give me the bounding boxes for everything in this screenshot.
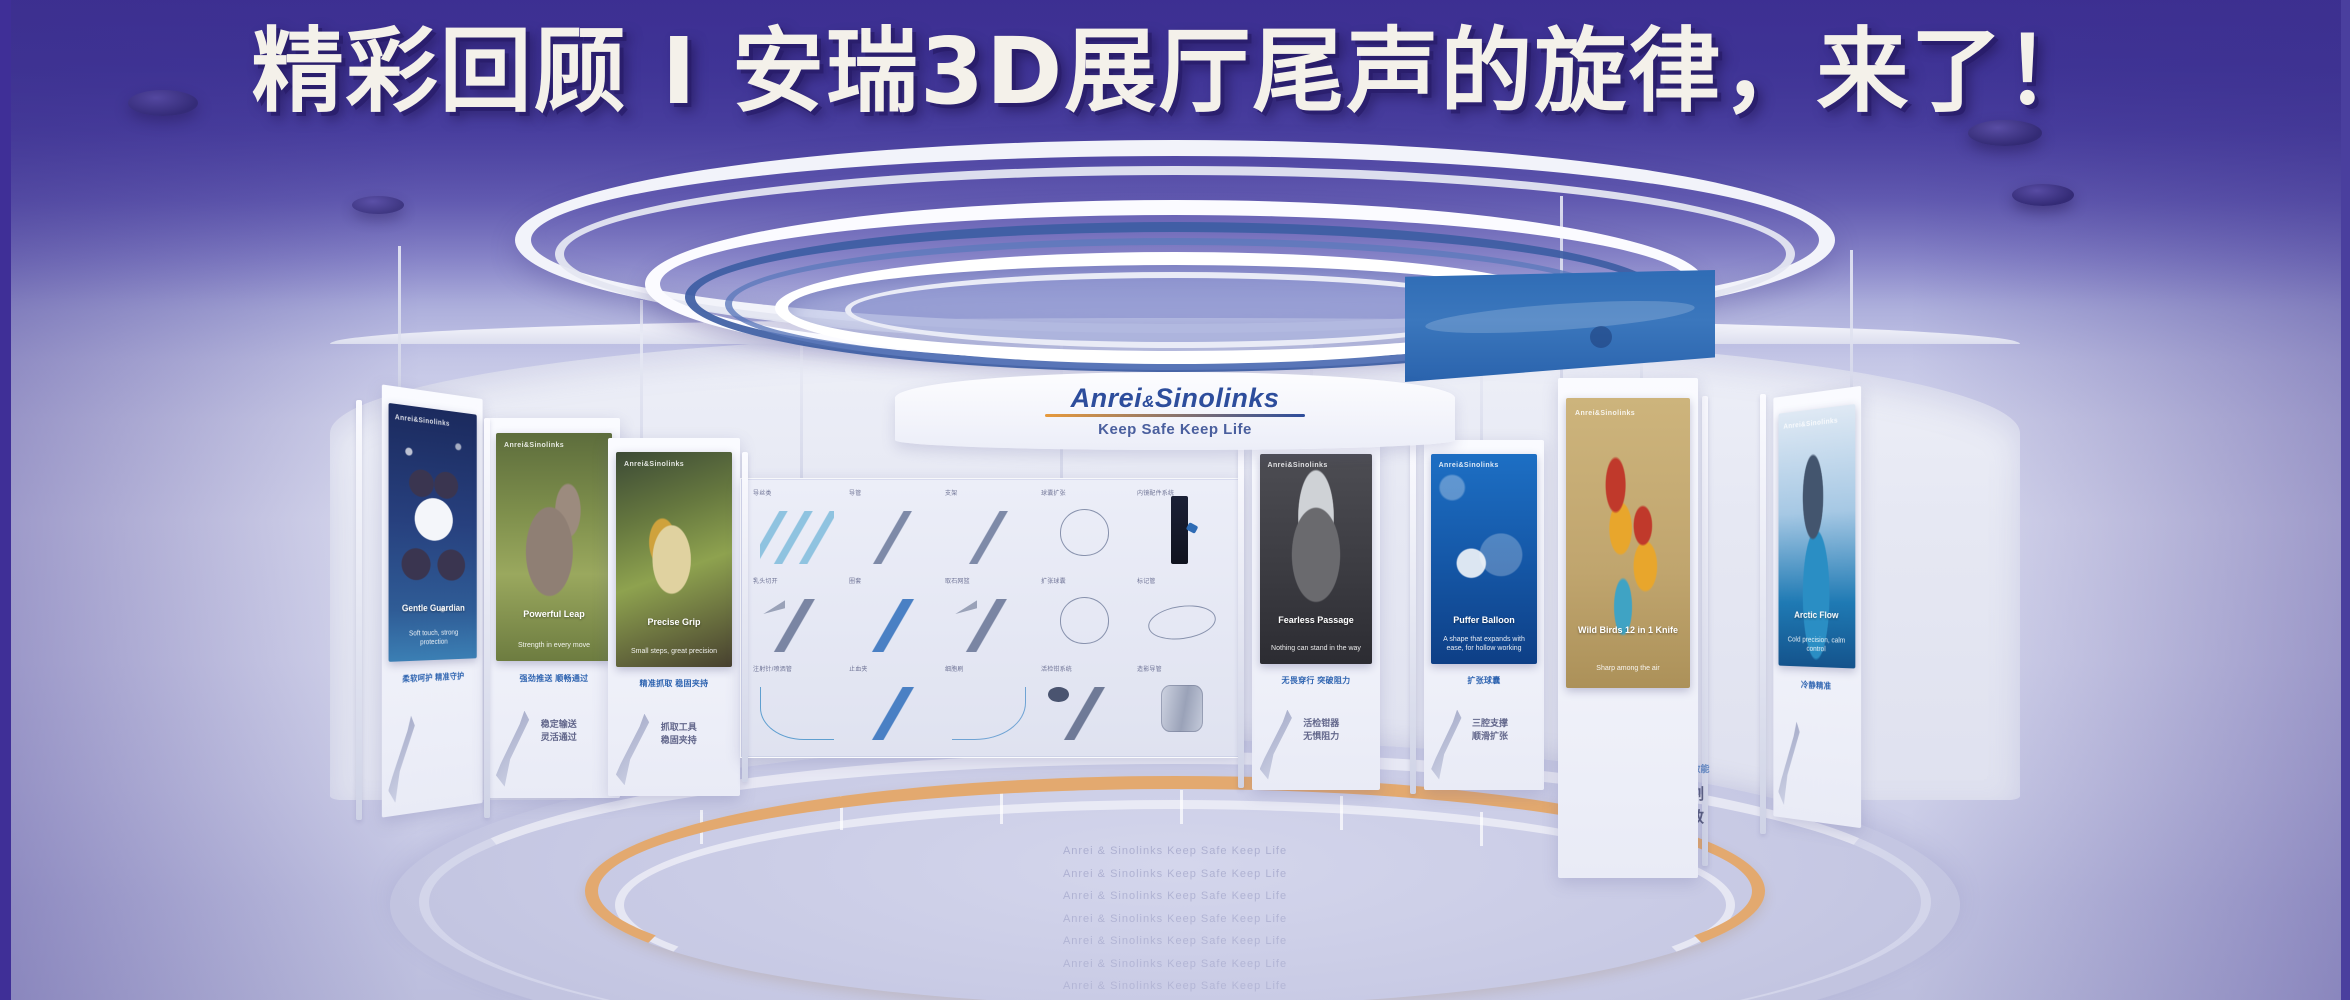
- device-balloon-icon: [1060, 509, 1109, 555]
- right-border: [2341, 0, 2350, 1000]
- device-snare-icon: [856, 599, 929, 652]
- poster-panel-puffer[interactable]: Anrei&Sinolinks Puffer Balloon A shape t…: [1424, 440, 1544, 790]
- brand-logo-secondary: Sinolinks: [1155, 383, 1280, 413]
- product-cell[interactable]: 导管: [847, 487, 941, 573]
- poster-title: Powerful Leap: [505, 609, 603, 620]
- poster-cn-caption: 强劲推送 顺畅通过: [496, 673, 612, 684]
- product-cell[interactable]: 活检钳系统: [1039, 663, 1133, 749]
- poster-artwork-bird: Anrei&Sinolinks Wild Birds 12 in 1 Knife…: [1566, 398, 1689, 688]
- fin-wave-accent: [1424, 295, 1695, 340]
- product-cell[interactable]: 造影导管: [1135, 663, 1229, 749]
- product-label: 活检钳系统: [1041, 664, 1072, 673]
- poster-artwork-badger: Anrei&Sinolinks Fearless Passage Nothing…: [1260, 454, 1373, 664]
- device-endoscope-accessory-icon: [1171, 496, 1188, 565]
- device-guidewire-icon: [760, 511, 833, 564]
- poster-cn-caption: 冷静精准: [1778, 678, 1855, 693]
- poster-panel-kangaroo[interactable]: Anrei&Sinolinks Powerful Leap Strength i…: [488, 418, 620, 798]
- poster-panel-bird[interactable]: Anrei&Sinolinks Wild Birds 12 in 1 Knife…: [1558, 378, 1698, 878]
- left-border: [0, 0, 11, 1000]
- poster-cn-lines: 抓取工具 稳固夹持: [661, 721, 734, 747]
- poster-subtitle: A shape that expands with ease, for holl…: [1440, 635, 1529, 653]
- product-cell[interactable]: 圈套: [847, 575, 941, 661]
- product-label: 造影导管: [1137, 664, 1162, 673]
- poster-panel-badger[interactable]: Anrei&Sinolinks Fearless Passage Nothing…: [1252, 440, 1380, 790]
- product-label: 细胞刷: [945, 664, 964, 673]
- product-silhouette: [1431, 710, 1467, 780]
- product-cell[interactable]: 乳头切开: [751, 575, 845, 661]
- poster-cn-caption: 柔软呵护 精准守护: [388, 670, 477, 686]
- poster-panel-ice[interactable]: Anrei&Sinolinks Arctic Flow Cold precisi…: [1773, 386, 1861, 828]
- product-silhouette: [1778, 720, 1803, 807]
- brand-logo: Anrei&Sinolinks: [1071, 385, 1280, 412]
- poster-subtitle: Strength in every move: [505, 641, 603, 650]
- display-post: [742, 452, 748, 782]
- poster-panel-frog[interactable]: Anrei&Sinolinks Precise Grip Small steps…: [608, 438, 740, 796]
- poster-brand: Anrei&Sinolinks: [1575, 410, 1635, 417]
- product-cell[interactable]: 支架: [943, 487, 1037, 573]
- fin-dot-accent: [1590, 326, 1612, 348]
- brand-tagline: Keep Safe Keep Life: [1098, 421, 1252, 438]
- display-post: [1410, 444, 1416, 794]
- poster-title: Arctic Flow: [1784, 609, 1849, 621]
- poster-brand: Anrei&Sinolinks: [1439, 462, 1499, 469]
- poster-brand: Anrei&Sinolinks: [504, 442, 564, 449]
- poster-brand: Anrei&Sinolinks: [1783, 417, 1838, 430]
- product-label: 止血夹: [849, 664, 868, 673]
- product-label: 扩张球囊: [1041, 576, 1066, 585]
- product-cell[interactable]: 球囊扩张: [1039, 487, 1133, 573]
- product-cell[interactable]: 扩张球囊: [1039, 575, 1133, 661]
- poster-title: Fearless Passage: [1269, 615, 1364, 626]
- device-injection-needle-icon: [760, 687, 833, 740]
- device-catheter-icon: [856, 511, 929, 564]
- product-catalog-grid[interactable]: 导丝类 导管 支架 球囊扩张 内镜配件系统 乳头切开 圈套 取石网篮 扩张球囊 …: [740, 478, 1240, 758]
- display-post: [1238, 448, 1244, 788]
- poster-subtitle: Cold precision, calm control: [1784, 636, 1849, 656]
- blue-banner-fin: [1405, 270, 1715, 382]
- product-cell[interactable]: 注射针/喷洒管: [751, 663, 845, 749]
- device-marker-tube-icon: [1146, 601, 1218, 643]
- product-label: 注射针/喷洒管: [753, 664, 792, 673]
- poster-title: Puffer Balloon: [1440, 615, 1529, 626]
- product-cell[interactable]: 细胞刷: [943, 663, 1037, 749]
- display-post: [356, 400, 362, 820]
- device-stone-basket-icon: [952, 599, 1025, 652]
- product-silhouette: [1260, 710, 1298, 780]
- product-label: 导丝类: [753, 488, 772, 497]
- poster-artwork-puffer: Anrei&Sinolinks Puffer Balloon A shape t…: [1431, 454, 1537, 664]
- product-silhouette: [616, 714, 656, 786]
- product-cell[interactable]: 内镜配件系统: [1135, 487, 1229, 573]
- poster-cn-lines: 稳定输送 灵活通过: [541, 718, 614, 744]
- poster-title: Wild Birds 12 in 1 Knife: [1576, 625, 1680, 636]
- poster-artwork-ice: Anrei&Sinolinks Arctic Flow Cold precisi…: [1778, 404, 1855, 668]
- device-stent-icon: [952, 511, 1025, 564]
- product-cell[interactable]: 标记管: [1135, 575, 1229, 661]
- logo-underline: [1045, 414, 1305, 417]
- poster-subtitle: Nothing can stand in the way: [1269, 644, 1364, 653]
- poster-cn-lines: 活检钳器 无惧阻力: [1303, 717, 1373, 743]
- product-silhouette: [496, 711, 536, 787]
- poster-title: Gentle Guardian: [396, 603, 470, 615]
- poster-subtitle: Sharp among the air: [1576, 664, 1680, 673]
- display-post: [484, 418, 490, 818]
- product-cell[interactable]: 导丝类: [751, 487, 845, 573]
- poster-title: Precise Grip: [625, 617, 723, 628]
- poster-subtitle: Soft touch, strong protection: [396, 628, 470, 648]
- product-label: 取石网篮: [945, 576, 970, 585]
- product-cell[interactable]: 取石网篮: [943, 575, 1037, 661]
- product-label: 内镜配件系统: [1137, 488, 1174, 497]
- poster-brand: Anrei&Sinolinks: [624, 461, 684, 468]
- product-cell[interactable]: 止血夹: [847, 663, 941, 749]
- poster-cn-caption: 扩张球囊: [1431, 675, 1537, 686]
- poster-cn-caption: 精准抓取 稳固夹持: [616, 678, 732, 689]
- poster-artwork-kangaroo: Anrei&Sinolinks Powerful Leap Strength i…: [496, 433, 612, 661]
- brand-logo-band: Anrei&Sinolinks Keep Safe Keep Life: [895, 372, 1455, 450]
- poster-cn-lines: 三腔支撑 顺滑扩张: [1472, 717, 1538, 743]
- product-label: 圈套: [849, 576, 861, 585]
- poster-artwork-frog: Anrei&Sinolinks Precise Grip Small steps…: [616, 452, 732, 667]
- display-post: [1760, 394, 1766, 834]
- poster-cn-caption: 无畏穿行 突破阻力: [1260, 675, 1373, 686]
- product-label: 乳头切开: [753, 576, 778, 585]
- device-contrast-catheter-icon: [1161, 685, 1202, 731]
- poster-brand: Anrei&Sinolinks: [395, 414, 450, 428]
- product-label: 导管: [849, 488, 861, 497]
- product-silhouette: [388, 715, 419, 804]
- product-label: 标记管: [1137, 576, 1156, 585]
- device-papillotome-icon: [760, 599, 833, 652]
- device-dilation-balloon-icon: [1060, 597, 1109, 643]
- poster-artwork-panda: Anrei&Sinolinks Gentle Guardian Soft tou…: [388, 403, 477, 662]
- poster-subtitle: Small steps, great precision: [625, 647, 723, 656]
- page-title: 精彩回顾 I 安瑞3D展厅尾声的旋律，来了！: [0, 24, 2350, 121]
- device-cytology-brush-icon: [952, 687, 1025, 740]
- poster-panel-panda[interactable]: Anrei&Sinolinks Gentle Guardian Soft tou…: [382, 384, 483, 817]
- brand-logo-primary: Anrei: [1071, 383, 1143, 413]
- exhibition-hall-banner: 精彩回顾 I 安瑞3D展厅尾声的旋律，来了！ Anrei&Sinolinks K…: [0, 0, 2350, 1000]
- poster-brand: Anrei&Sinolinks: [1268, 462, 1328, 469]
- product-label: 球囊扩张: [1041, 488, 1066, 497]
- product-label: 支架: [945, 488, 957, 497]
- brand-logo-ampersand: &: [1142, 392, 1155, 411]
- device-biopsy-forceps-icon: [1048, 687, 1121, 740]
- device-hemoclip-icon: [856, 687, 929, 740]
